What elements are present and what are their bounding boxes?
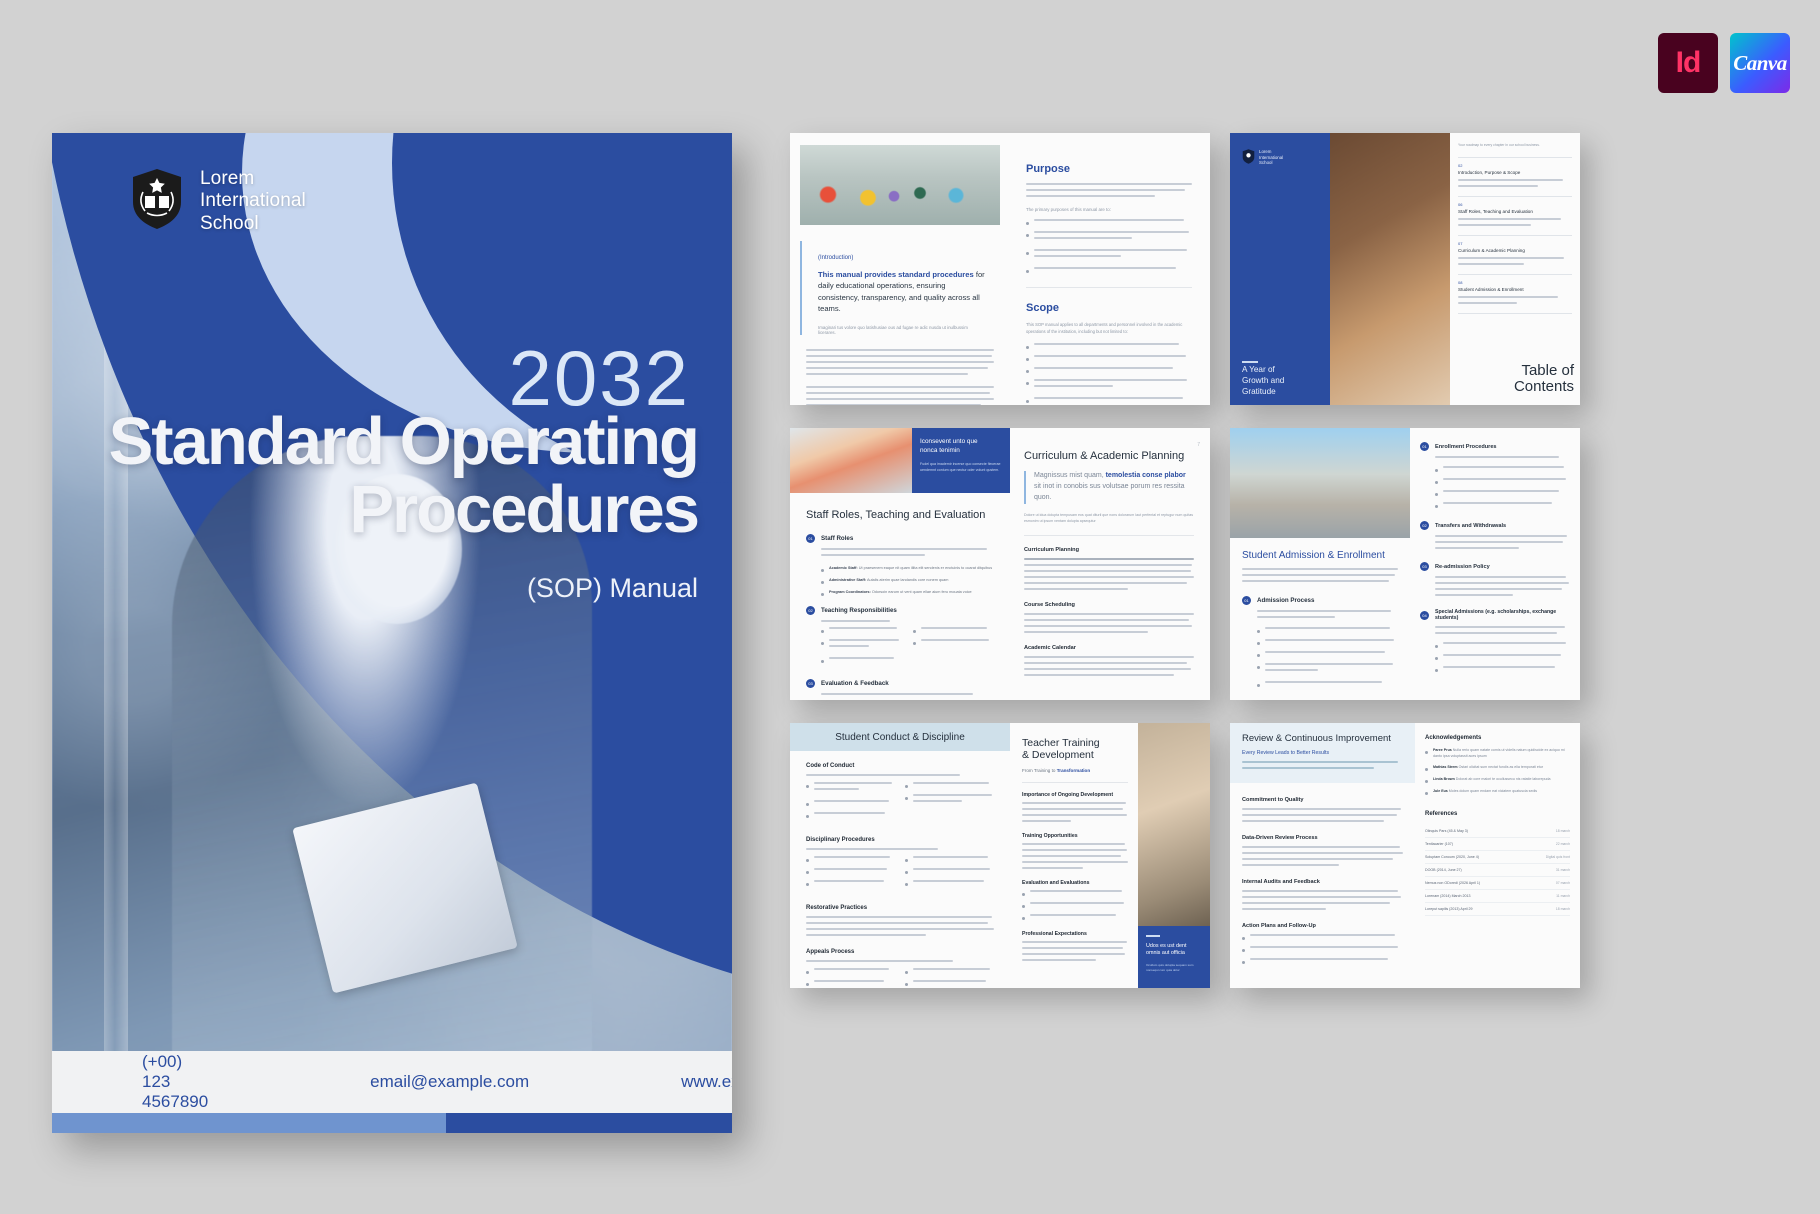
curriculum-right-page: Curriculum & Academic Planning Magnissus… xyxy=(1010,428,1210,700)
reference-row: Nemus non ODoredi (2026 April 1) 07 marc… xyxy=(1425,877,1570,890)
curriculum-lead-end: sit inot in conobis sus volutsae porum r… xyxy=(1034,483,1185,501)
section-row: 01 Staff Roles xyxy=(806,534,994,543)
scope-intro: This SOP manual applies to all departmen… xyxy=(1026,321,1192,335)
reference-row: Soluptam Conoum (2020, June 4) Digital q… xyxy=(1425,851,1570,864)
credit-name: Mathias Strem xyxy=(1433,765,1458,769)
acknowledgements-page: Acknowledgements Paree Prus Nulla rerio … xyxy=(1415,723,1580,988)
introduction-right-page: Purpose The primary purposes of this man… xyxy=(1010,133,1210,405)
section-row: 04 Special Admissions (e.g. scholarships… xyxy=(1420,609,1570,621)
section-row: 01 Admission Process xyxy=(1242,596,1398,605)
section-title: Code of Conduct xyxy=(806,763,994,769)
admission-left-page: Student Admission & Enrollment 01 Admiss… xyxy=(1230,428,1410,700)
spread-curriculum: Iconsevent unto que nonca tenimin Fudel … xyxy=(790,428,1210,700)
spread-review: Review & Continuous Improvement Every Re… xyxy=(1230,723,1580,988)
toc-title-line-1: Table of xyxy=(1514,363,1574,379)
section-number: 01 xyxy=(1420,442,1429,451)
page-number: 7 xyxy=(1197,442,1200,448)
section-title: Academic Calendar xyxy=(1024,645,1194,651)
reference-label: Lorenam (2014) March 2013 xyxy=(1425,894,1471,898)
toc-item-number: 06 xyxy=(1458,202,1572,207)
toc-right-page: Your roadmap to every chapter in our sch… xyxy=(1450,133,1580,405)
reference-label: Nemus non ODoredi (2026 April 1) xyxy=(1425,881,1480,885)
reference-meta: 31 march xyxy=(1556,868,1570,872)
admission-heading: Student Admission & Enrollment xyxy=(1242,550,1398,561)
review-band-subtitle: Every Review Leads to Better Results xyxy=(1242,750,1403,756)
toc-logo-text: Lorem International School xyxy=(1259,149,1283,166)
reference-meta: 07 march xyxy=(1556,881,1570,885)
credit-name: Linda Brown xyxy=(1433,777,1455,781)
credit-desc: Dolorat ab core maiori te ocullussecu ni… xyxy=(1456,777,1551,781)
logo-line-3: School xyxy=(1259,160,1283,166)
teacher-training-page: Teacher Training & Development From Trai… xyxy=(1010,723,1210,988)
section-row: 03 Re-admission Policy xyxy=(1420,562,1570,571)
cover-logo-text: Lorem International School xyxy=(200,168,306,235)
credit-desc: Nulla rerio quam natate comis ut videlis… xyxy=(1433,748,1565,758)
section-title: Evaluation and Evaluations xyxy=(1022,880,1128,886)
toc-item[interactable]: 07 Curriculum & Academic Planning xyxy=(1458,235,1572,274)
section-title: Restorative Practices xyxy=(806,905,994,911)
purpose-intro: The primary purposes of this manual are … xyxy=(1026,207,1192,212)
reference-label: Tentlacarier (107) xyxy=(1425,842,1453,846)
shield-crest-icon xyxy=(130,168,184,230)
toc-item-number: 02 xyxy=(1458,163,1572,168)
reference-meta: 22 march xyxy=(1556,842,1570,846)
review-left-page: Review & Continuous Improvement Every Re… xyxy=(1230,723,1415,988)
conduct-band: Student Conduct & Discipline xyxy=(790,723,1010,751)
section-row: 03 Evaluation & Feedback xyxy=(806,679,994,688)
overlay-title-1: Iconsevent unto que xyxy=(920,438,1002,447)
toc-item[interactable]: 06 Staff Roles, Teaching and Evaluation xyxy=(1458,196,1572,235)
cover-title-line-1: Standard Operating xyxy=(100,408,698,476)
logo-line-2: International xyxy=(200,190,306,212)
indesign-icon: Id xyxy=(1658,33,1718,93)
conduct-left-page: Student Conduct & Discipline Code of Con… xyxy=(790,723,1010,988)
app-badges: Id Canva xyxy=(1658,33,1790,93)
reference-meta: 18 march xyxy=(1556,907,1570,911)
section-number: 01 xyxy=(1242,596,1251,605)
section-number: 03 xyxy=(1420,562,1429,571)
curriculum-heading: Curriculum & Academic Planning xyxy=(1024,450,1194,462)
spread-grid: (Introduction) This manual provides stan… xyxy=(780,133,1780,1003)
section-title: Disciplinary Procedures xyxy=(806,837,994,843)
quote-line-1: Udos es ust dent xyxy=(1146,943,1202,950)
section-title: Enrollment Procedures xyxy=(1435,444,1497,450)
training-heading: Teacher Training & Development xyxy=(1022,737,1128,761)
section-number: 02 xyxy=(1420,521,1429,530)
toc-item[interactable]: 08 Student Admission & Enrollment xyxy=(1458,274,1572,314)
section-title: Evaluation & Feedback xyxy=(821,680,889,687)
section-title: Training Opportunities xyxy=(1022,833,1128,839)
scope-heading: Scope xyxy=(1026,302,1192,314)
toc-mini-logo: Lorem International School xyxy=(1242,149,1318,166)
cover-bar-dark xyxy=(446,1113,732,1133)
toc-title-line-2: Contents xyxy=(1514,379,1574,395)
introduction-left-page: (Introduction) This manual provides stan… xyxy=(790,133,1010,405)
quote-line-2: omnis aut officia xyxy=(1146,950,1202,957)
credit-item: Paree Prus Nulla rerio quam natate comis… xyxy=(1425,748,1570,759)
curriculum-left-page: Iconsevent unto que nonca tenimin Fudel … xyxy=(790,428,1010,700)
reference-row: Loreput sapilis (2013) April 29 18 march xyxy=(1425,903,1570,916)
cover-bottom-bar xyxy=(52,1113,732,1133)
training-kicker-accent: Transformation xyxy=(1057,768,1090,773)
section-title: Curriculum Planning xyxy=(1024,547,1194,553)
reference-row: DOOB (2014, June 27) 31 march xyxy=(1425,864,1570,877)
toc-sidebar-note: Your roadmap to every chapter in our sch… xyxy=(1458,143,1572,148)
students-backpacks-photo xyxy=(1230,428,1410,538)
girl-with-pencil-photo xyxy=(1138,723,1210,926)
reference-meta: 18 march xyxy=(1556,829,1570,833)
section-title: Admission Process xyxy=(1257,597,1314,604)
training-quote-box: Udos es ust dent omnis aut officia Ocull… xyxy=(1138,926,1210,988)
cover-email: email@example.com xyxy=(370,1072,529,1092)
overlay-title-2: nonca tenimin xyxy=(920,447,1002,456)
credit-item: Jule Eus Moles dolum quam endam eat vici… xyxy=(1425,789,1570,795)
credit-item: Mathias Strem Ostari olicitat sum nectat… xyxy=(1425,765,1570,771)
toc-item-label: Curriculum & Academic Planning xyxy=(1458,248,1572,253)
toc-quote-rule xyxy=(1242,361,1258,363)
classroom-teacher-photo xyxy=(1330,133,1450,405)
section-title: Importance of Ongoing Development xyxy=(1022,792,1128,798)
section-title: Appeals Process xyxy=(806,949,994,955)
section-number: 02 xyxy=(806,606,815,615)
curriculum-lead-accent: temolestia conse plabor xyxy=(1106,472,1186,479)
shield-crest-icon xyxy=(1242,149,1255,164)
toc-title: Table of Contents xyxy=(1514,363,1574,395)
section-title: Commitment to Quality xyxy=(1242,797,1403,803)
reference-label: Loreput sapilis (2013) April 29 xyxy=(1425,907,1473,911)
purpose-heading: Purpose xyxy=(1026,163,1192,175)
section-row: 02 Transfers and Withdrawals xyxy=(1420,521,1570,530)
section-title: Staff Roles xyxy=(821,535,853,542)
logo-line-1: Lorem xyxy=(200,168,306,190)
reference-row: Lorenam (2014) March 2013 11 march xyxy=(1425,890,1570,903)
reference-meta: Digital quis front xyxy=(1546,855,1570,859)
spread-conduct: Student Conduct & Discipline Code of Con… xyxy=(790,723,1210,988)
cover-bar-light xyxy=(52,1113,446,1133)
introduction-lead-bold: This manual provides standard procedures xyxy=(818,270,974,279)
toc-quote-title: A Year of Growth and Gratitude xyxy=(1242,364,1284,397)
cover-title-line-2: Procedures xyxy=(100,476,698,544)
reference-row: Tentlacarier (107) 22 march xyxy=(1425,838,1570,851)
curriculum-lead-start: Magnissus mist quam, xyxy=(1034,472,1104,479)
cover-website: www.example.com xyxy=(681,1072,732,1092)
section-row: 01 Enrollment Procedures xyxy=(1420,442,1570,451)
section-title: Transfers and Withdrawals xyxy=(1435,523,1506,529)
review-band: Review & Continuous Improvement Every Re… xyxy=(1230,723,1415,783)
references-heading: References xyxy=(1425,811,1570,817)
section-title: Special Admissions (e.g. scholarships, e… xyxy=(1435,609,1570,621)
toc-item-label: Student Admission & Enrollment xyxy=(1458,287,1572,292)
introduction-caption: Imaginari tus volore quo latishusiae ous… xyxy=(818,325,986,335)
introduction-kicker: (Introduction) xyxy=(818,255,986,261)
toc-left-navy-panel: Lorem International School A Year of Gro… xyxy=(1230,133,1330,405)
credit-name: Jule Eus xyxy=(1433,789,1448,793)
toc-item-label: Introduction, Purpose & Scope xyxy=(1458,170,1572,175)
cover-logo: Lorem International School xyxy=(130,168,306,235)
canva-icon: Canva xyxy=(1730,33,1790,93)
section-title: Data-Driven Review Process xyxy=(1242,835,1403,841)
section-title: Professional Expectations xyxy=(1022,931,1128,937)
toc-item[interactable]: 02 Introduction, Purpose & Scope xyxy=(1458,157,1572,196)
quote-rule xyxy=(1146,935,1160,937)
cover-footer: (+00) 123 4567890 email@example.com www.… xyxy=(52,1051,732,1113)
staff-roles-heading: Staff Roles, Teaching and Evaluation xyxy=(806,509,994,521)
training-heading-1: Teacher Training xyxy=(1022,737,1128,749)
credit-item: Linda Brown Dolorat ab core maiori te oc… xyxy=(1425,777,1570,783)
admission-right-page: 01 Enrollment Procedures 02 Transfers an… xyxy=(1410,428,1580,700)
bullet-academic: Ut praesenem eaque nit quam illita elit … xyxy=(859,566,992,570)
section-title: Course Scheduling xyxy=(1024,602,1194,608)
acknowledgements-heading: Acknowledgements xyxy=(1425,735,1570,741)
section-title: Internal Audits and Feedback xyxy=(1242,879,1403,885)
cover-page: Lorem International School 2032 Standard… xyxy=(52,133,732,1133)
reference-row: Olinquis Pars (45 & May 3) 18 march xyxy=(1425,825,1570,838)
conduct-band-title: Student Conduct & Discipline xyxy=(835,732,965,743)
spread-admission: Student Admission & Enrollment 01 Admiss… xyxy=(1230,428,1580,700)
toc-item-number: 07 xyxy=(1458,241,1572,246)
section-title: Action Plans and Follow-Up xyxy=(1242,923,1403,929)
overlay-body: Fudel qua imademir incerse quo consecte … xyxy=(920,462,1002,474)
reference-label: Olinquis Pars (45 & May 3) xyxy=(1425,829,1468,833)
cover-phone: (+00) 123 4567890 xyxy=(142,1052,208,1112)
credit-desc: Ostari olicitat sum nectat fundis as eli… xyxy=(1459,765,1544,769)
section-number: 04 xyxy=(1420,611,1429,620)
section-number: 01 xyxy=(806,534,815,543)
spread-table-of-contents: Lorem International School A Year of Gro… xyxy=(1230,133,1580,405)
training-heading-2: & Development xyxy=(1022,749,1128,761)
spread-introduction: (Introduction) This manual provides stan… xyxy=(790,133,1210,405)
cover-subtitle: (SOP) Manual xyxy=(527,573,698,604)
cover-title: Standard Operating Procedures xyxy=(100,408,698,545)
reference-meta: 11 march xyxy=(1556,894,1570,898)
training-kicker-start: From Training to xyxy=(1022,768,1055,773)
review-band-title: Review & Continuous Improvement xyxy=(1242,733,1403,744)
section-title: Teaching Responsibilities xyxy=(821,607,897,614)
reference-label: Soluptam Conoum (2020, June 4) xyxy=(1425,855,1479,859)
toc-item-label: Staff Roles, Teaching and Evaluation xyxy=(1458,209,1572,214)
section-title: Re-admission Policy xyxy=(1435,564,1490,570)
curriculum-overlay-box: Iconsevent unto que nonca tenimin Fudel … xyxy=(912,428,1010,493)
parent-child-photo xyxy=(790,428,912,493)
toc-item-number: 08 xyxy=(1458,280,1572,285)
section-number: 03 xyxy=(806,679,815,688)
students-walking-photo xyxy=(800,145,1000,225)
reference-label: DOOB (2014, June 27) xyxy=(1425,868,1462,872)
logo-line-3: School xyxy=(200,213,306,235)
credit-name: Paree Prus xyxy=(1433,748,1452,752)
section-row: 02 Teaching Responsibilities xyxy=(806,606,994,615)
credit-desc: Moles dolum quam endam eat viciatem quat… xyxy=(1449,789,1537,793)
